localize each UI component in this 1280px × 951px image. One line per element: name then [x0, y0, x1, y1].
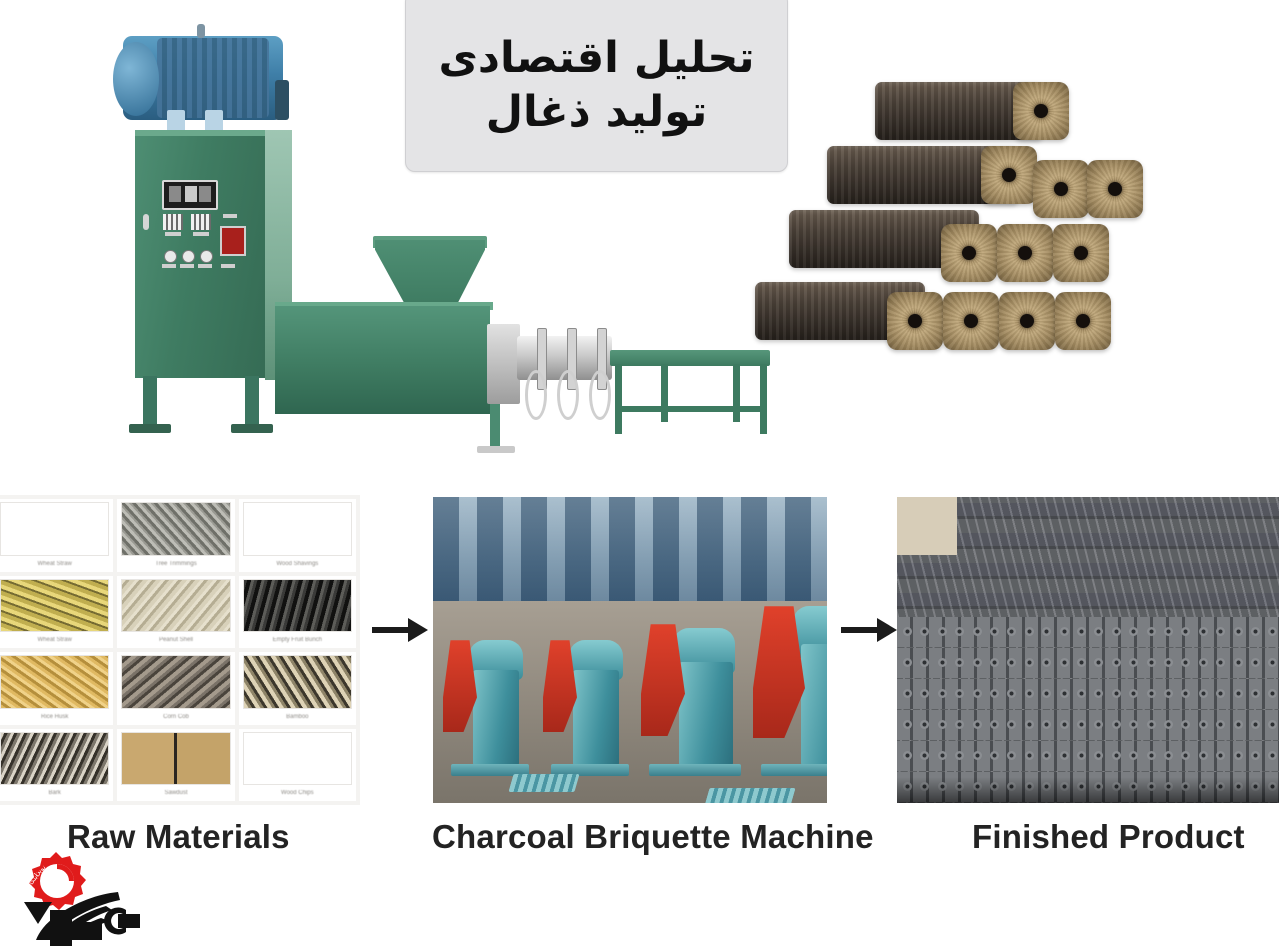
panel-label-1 — [165, 232, 181, 236]
machine-body — [473, 670, 519, 766]
charcoal-briquette-hole — [1268, 627, 1277, 636]
swoosh-mark — [24, 892, 140, 946]
raw-material-thumbnail — [121, 732, 230, 786]
motor-terminal-box-right — [205, 110, 223, 132]
charcoal-briquette-hole — [1199, 627, 1208, 636]
raw-material-label: Peanut Shell — [117, 633, 234, 648]
charcoal-briquette-hole — [1164, 627, 1173, 636]
charcoal-briquette-hole — [903, 720, 912, 729]
charcoal-briquette-hole — [903, 658, 912, 667]
charcoal-briquette-hole — [990, 720, 999, 729]
charcoal-briquette-hole — [955, 658, 964, 667]
output-stand-leg-1 — [615, 364, 622, 434]
charcoal-briquette-hole — [1147, 627, 1156, 636]
raw-material-label: Bark — [0, 786, 113, 801]
charcoal-briquette-hole — [1216, 627, 1225, 636]
motor-mount-bracket — [275, 80, 289, 120]
cabinet-foot-right — [231, 424, 273, 433]
raw-material-cell: Wheat Straw — [0, 576, 113, 649]
charcoal-briquette-hole — [1164, 720, 1173, 729]
briquette-end-cap — [981, 146, 1037, 204]
charcoal-briquette-hole — [990, 751, 999, 760]
charcoal-briquette-hole — [1025, 627, 1034, 636]
raw-material-cell: Wheat Straw — [0, 499, 113, 572]
charcoal-briquette-hole — [990, 627, 999, 636]
charcoal-briquette-hole — [1077, 751, 1086, 760]
charcoal-briquette-hole — [1181, 689, 1190, 698]
charcoal-briquette-hole — [1025, 658, 1034, 667]
charcoal-briquette-hole — [1129, 720, 1138, 729]
knob-label-2 — [180, 264, 194, 268]
raw-material-cell: Bamboo — [239, 652, 356, 725]
tube-clamp-1 — [525, 370, 547, 420]
charcoal-briquette-hole — [1042, 689, 1051, 698]
briquette-end-cap — [1053, 224, 1109, 282]
charcoal-briquette-hole — [1251, 658, 1260, 667]
charcoal-briquette-hole — [1042, 658, 1051, 667]
arrow-shaft — [372, 627, 412, 633]
cabinet-leg-left — [143, 376, 157, 428]
cabinet-leg-right — [245, 376, 259, 428]
charcoal-briquette-hole — [1216, 689, 1225, 698]
charcoal-briquette-hole — [920, 720, 929, 729]
raw-material-label: Wood Chips — [239, 786, 356, 801]
raw-material-label: Bamboo — [239, 710, 356, 725]
charcoal-briquette-hole — [1094, 720, 1103, 729]
charcoal-briquette-hole — [1112, 720, 1121, 729]
wrench-icon — [104, 907, 140, 934]
tube-clamp-2 — [557, 370, 579, 420]
tube-clamp-3 — [589, 370, 611, 420]
panel-label-2 — [193, 232, 209, 236]
raw-material-cell: Wood Shavings — [239, 499, 356, 572]
gear-icon: نوین ابتکار — [18, 850, 86, 910]
charcoal-briquette-hole — [1025, 689, 1034, 698]
raw-material-label: Empty Fruit Bunch — [239, 633, 356, 648]
charcoal-row — [897, 648, 1279, 678]
raw-material-label: Tree Trimmings — [117, 557, 234, 572]
charcoal-row — [897, 617, 1279, 647]
charcoal-briquette-hole — [1129, 658, 1138, 667]
charcoal-briquette-hole — [973, 627, 982, 636]
raw-material-thumbnail — [121, 655, 230, 709]
briquette-end-cap — [997, 224, 1053, 282]
charcoal-row — [897, 741, 1279, 771]
raw-material-cell: Empty Fruit Bunch — [239, 576, 356, 649]
support-post-foot — [477, 446, 515, 453]
charcoal-briquette-hole — [1251, 751, 1260, 760]
charcoal-briquette-hole — [1251, 720, 1260, 729]
charcoal-briquette-hole — [973, 720, 982, 729]
charcoal-briquette-hole — [973, 689, 982, 698]
cabinet-side-switch — [143, 214, 149, 230]
raw-material-label: Corn Cob — [117, 710, 234, 725]
arrow-head — [408, 618, 428, 642]
charcoal-briquette-hole — [955, 720, 964, 729]
charcoal-briquette-hole — [973, 751, 982, 760]
charcoal-briquette-hole — [1199, 751, 1208, 760]
factory-window-wall — [433, 497, 827, 601]
charcoal-briquette-hole — [1216, 751, 1225, 760]
charcoal-briquette-hole — [1094, 689, 1103, 698]
charcoal-row — [897, 679, 1279, 709]
raw-material-label: Wheat Straw — [0, 557, 113, 572]
control-knob-2 — [182, 250, 195, 263]
charcoal-briquette-hole — [1042, 720, 1051, 729]
raw-material-thumbnail — [0, 655, 109, 709]
output-stand-leg-4 — [733, 364, 740, 422]
charcoal-briquette-hole — [1181, 751, 1190, 760]
control-display — [162, 180, 218, 210]
charcoal-briquette-hole — [1007, 751, 1016, 760]
charcoal-briquette-hole — [1094, 658, 1103, 667]
charcoal-briquette-hole — [990, 689, 999, 698]
arrow-head — [877, 618, 897, 642]
charcoal-briquette-hole — [1147, 658, 1156, 667]
raw-material-thumbnail — [243, 732, 352, 786]
raw-material-cell: Peanut Shell — [117, 576, 234, 649]
charcoal-briquette-hole — [1234, 658, 1243, 667]
control-knob-1 — [164, 250, 177, 263]
charcoal-briquette-hole — [1199, 720, 1208, 729]
charcoal-briquette-hole — [1164, 751, 1173, 760]
charcoal-briquette-hole — [1147, 720, 1156, 729]
raw-material-label: Wheat Straw — [0, 633, 113, 648]
charcoal-briquette-hole — [920, 689, 929, 698]
briquette-end-cap — [941, 224, 997, 282]
company-logo: نوین ابتکار — [6, 850, 156, 950]
motor-terminal-box-left — [167, 110, 185, 132]
panel-label-3 — [223, 214, 237, 218]
charcoal-briquette-hole — [1234, 689, 1243, 698]
raw-material-cell: Rice Husk — [0, 652, 113, 725]
raw-material-thumbnail — [0, 579, 109, 633]
raw-material-thumbnail — [121, 502, 230, 556]
charcoal-briquette-hole — [1094, 751, 1103, 760]
feed-hopper — [375, 240, 485, 310]
raw-material-cell: Bark — [0, 729, 113, 802]
raw-material-label: Rice Husk — [0, 710, 113, 725]
knob-label-4 — [221, 264, 235, 268]
charcoal-briquette-hole — [1112, 751, 1121, 760]
charcoal-briquette-hole — [1025, 751, 1034, 760]
title-line-1: تحلیل اقتصادی — [438, 31, 754, 85]
caption-finished-product: Finished Product — [972, 818, 1245, 856]
motor-fan-cover — [113, 42, 159, 116]
machine-body — [801, 644, 827, 766]
charcoal-briquette-hole — [1042, 751, 1051, 760]
output-stand-leg-3 — [661, 364, 668, 422]
raw-material-cell: Sawdust — [117, 729, 234, 802]
charcoal-briquette-hole — [1129, 751, 1138, 760]
cabinet-foot-left — [129, 424, 171, 433]
knob-label-1 — [162, 264, 176, 268]
charcoal-briquette-hole — [1060, 658, 1069, 667]
machine-body — [573, 670, 619, 766]
charcoal-briquette-hole — [1112, 627, 1121, 636]
charcoal-briquette-hole — [1077, 720, 1086, 729]
logo-artwork: نوین ابتکار — [6, 850, 156, 950]
charcoal-briquette-hole — [1268, 689, 1277, 698]
charcoal-briquette-machine-panel — [433, 497, 827, 803]
raw-material-thumbnail — [0, 732, 109, 786]
hexagonal-briquette-stack-photo — [745, 60, 1185, 425]
charcoal-briquette-hole — [1094, 627, 1103, 636]
support-post — [490, 404, 500, 448]
pile-shadow — [897, 777, 1279, 803]
title-card: تحلیل اقتصادی تولید ذغال — [405, 0, 788, 172]
charcoal-briquette-hole — [1234, 720, 1243, 729]
charcoal-briquette-hole — [1147, 751, 1156, 760]
charcoal-briquette-hole — [903, 627, 912, 636]
raw-material-thumbnail — [243, 502, 352, 556]
motor-lifting-eye — [197, 24, 205, 38]
charcoal-briquette-hole — [920, 627, 929, 636]
charcoal-briquette-hole — [1007, 689, 1016, 698]
charcoal-briquette-hole — [1181, 720, 1190, 729]
charcoal-briquette-hole — [955, 751, 964, 760]
briquette-end-cap — [999, 292, 1055, 350]
charcoal-briquette-hole — [1216, 720, 1225, 729]
charcoal-briquette-hole — [903, 689, 912, 698]
charcoal-briquette-hole — [1112, 658, 1121, 667]
raw-material-thumbnail — [121, 579, 230, 633]
charcoal-briquette-hole — [938, 658, 947, 667]
emergency-stop-button — [220, 226, 246, 256]
die-head-flange — [487, 324, 520, 404]
briquette-end-cap — [887, 292, 943, 350]
charcoal-briquette-hole — [1042, 627, 1051, 636]
charcoal-briquette-hole — [1077, 689, 1086, 698]
raw-material-label: Sawdust — [117, 786, 234, 801]
charcoal-briquette-hole — [973, 658, 982, 667]
charcoal-briquette-hole — [1129, 689, 1138, 698]
charcoal-briquette-hole — [1199, 658, 1208, 667]
charcoal-briquette-hole — [955, 627, 964, 636]
machine-conveyor — [704, 788, 795, 803]
charcoal-briquette-hole — [990, 658, 999, 667]
raw-material-label: Wood Shavings — [239, 557, 356, 572]
charcoal-briquette-hole — [955, 689, 964, 698]
charcoal-briquette-hole — [1181, 658, 1190, 667]
charcoal-briquette-hole — [938, 689, 947, 698]
charcoal-briquette-hole — [1251, 627, 1260, 636]
raw-materials-grid: Wheat StrawTree TrimmingsWood ShavingsWh… — [0, 495, 360, 805]
charcoal-briquette-hole — [1060, 689, 1069, 698]
raw-material-cell: Wood Chips — [239, 729, 356, 802]
charcoal-briquette-hole — [1060, 751, 1069, 760]
charcoal-briquette-hole — [938, 751, 947, 760]
charcoal-briquette-hole — [1007, 658, 1016, 667]
charcoal-briquette-hole — [1234, 627, 1243, 636]
briquette-end-cap — [1087, 160, 1143, 218]
title-line-2: تولید ذغال — [486, 85, 708, 139]
charcoal-briquette-hole — [903, 751, 912, 760]
charcoal-briquette-hole — [938, 627, 947, 636]
extrusion-barrel — [275, 306, 490, 414]
charcoal-briquette-hole — [1077, 658, 1086, 667]
machine-conveyor — [508, 774, 579, 792]
raw-material-thumbnail — [243, 655, 352, 709]
charcoal-briquette-hole — [920, 751, 929, 760]
charcoal-briquette-hole — [1268, 720, 1277, 729]
charcoal-briquette-hole — [1060, 720, 1069, 729]
charcoal-briquette-hole — [1007, 627, 1016, 636]
charcoal-row — [897, 710, 1279, 740]
charcoal-briquette-hole — [1147, 689, 1156, 698]
charcoal-briquette-hole — [1077, 627, 1086, 636]
charcoal-briquette-hole — [1164, 658, 1173, 667]
charcoal-briquette-hole — [1251, 689, 1260, 698]
briquette-end-cap — [1013, 82, 1069, 140]
charcoal-briquette-hole — [1199, 689, 1208, 698]
raw-material-thumbnail — [243, 579, 352, 633]
machine-body — [679, 662, 733, 766]
charcoal-briquette-hole — [1164, 689, 1173, 698]
machine-base — [649, 764, 741, 776]
charcoal-briquette-hole — [920, 658, 929, 667]
briquette-end-cap — [1055, 292, 1111, 350]
process-arrow-2 — [841, 618, 899, 642]
knob-label-3 — [198, 264, 212, 268]
charcoal-briquette-hole — [1268, 751, 1277, 760]
machine-base — [761, 764, 827, 776]
charcoal-briquette-hole — [1060, 627, 1069, 636]
charcoal-briquette-hole — [1112, 689, 1121, 698]
charcoal-briquette-hole — [1129, 627, 1138, 636]
background-wall — [897, 497, 957, 555]
briquette-end-cap — [1033, 160, 1089, 218]
charcoal-briquette-hole — [1007, 720, 1016, 729]
control-meter-right — [191, 214, 211, 230]
raw-material-cell: Tree Trimmings — [117, 499, 234, 572]
briquette-end-cap — [943, 292, 999, 350]
charcoal-briquette-hole — [938, 720, 947, 729]
process-arrow-1 — [372, 618, 430, 642]
charcoal-briquette-hole — [1234, 751, 1243, 760]
control-knob-3 — [200, 250, 213, 263]
control-meter-left — [163, 214, 183, 230]
motor-cooling-fins — [157, 38, 269, 118]
caption-charcoal-briquette-machine: Charcoal Briquette Machine — [432, 818, 874, 856]
charcoal-briquette-hole — [1025, 720, 1034, 729]
charcoal-briquette-hole — [1216, 658, 1225, 667]
charcoal-briquette-hole — [1181, 627, 1190, 636]
raw-material-thumbnail — [0, 502, 109, 556]
raw-materials-panel: Wheat StrawTree TrimmingsWood ShavingsWh… — [0, 495, 360, 805]
arrow-shaft — [841, 627, 881, 633]
raw-material-cell: Corn Cob — [117, 652, 234, 725]
charcoal-briquette-hole — [1268, 658, 1277, 667]
finished-product-panel — [897, 497, 1279, 803]
infographic-canvas: تحلیل اقتصادی تولید ذغال Wheat StrawTree… — [0, 0, 1280, 951]
